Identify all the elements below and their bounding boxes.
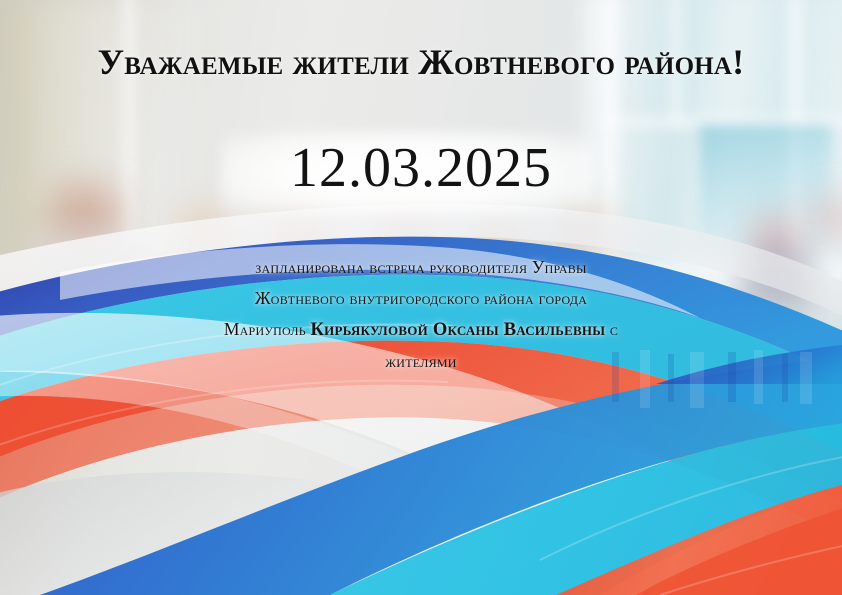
- window-mullion: [124, 0, 134, 242]
- page-title: Уважаемые жители Жовтневого района!: [0, 44, 842, 82]
- body-line-1: запланирована встреча руководителя Управ…: [121, 252, 721, 283]
- announcement-poster: Уважаемые жители Жовтневого района! 12.0…: [0, 0, 842, 595]
- person-body-blob: [742, 248, 814, 310]
- body-line-2: Жовтневого внутригородского района город…: [121, 283, 721, 314]
- body-line-3-prefix: Мариуполь: [224, 319, 311, 339]
- body-line-3: Мариуполь Кирьякуловой Оксаны Васильевны…: [121, 314, 721, 346]
- body-line-3-suffix: с: [605, 319, 618, 339]
- body-line-4: жителями: [121, 346, 721, 377]
- announcement-body: запланирована встреча руководителя Управ…: [121, 252, 721, 377]
- official-name: Кирьякуловой Оксаны Васильевны: [311, 320, 606, 340]
- meeting-date: 12.03.2025: [0, 140, 842, 196]
